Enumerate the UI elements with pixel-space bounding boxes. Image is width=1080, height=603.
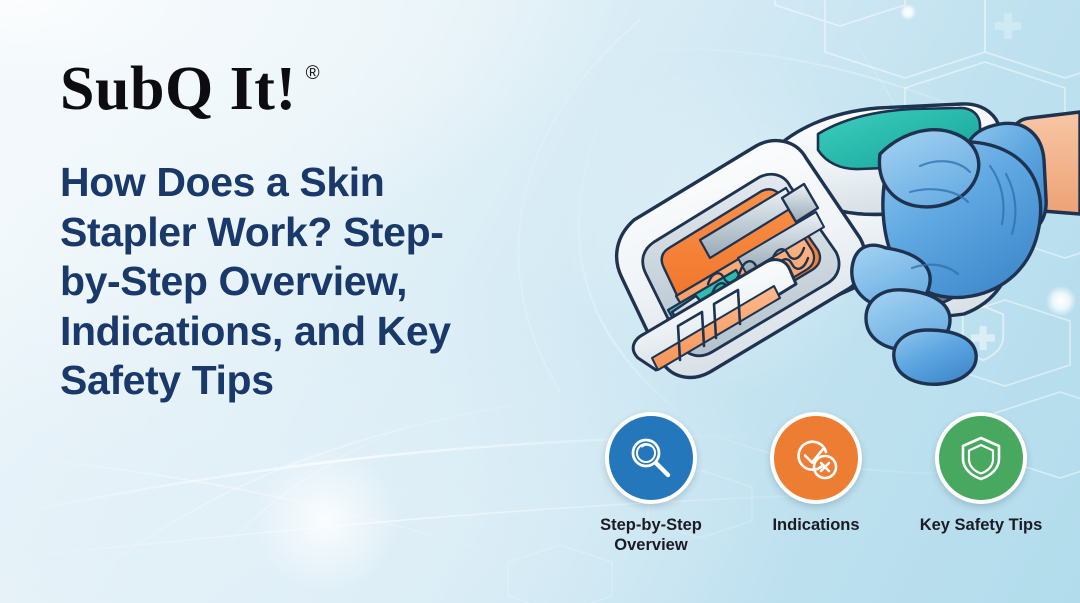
badge-label: Step-by-Step Overview [576, 515, 726, 555]
skin-stapler-gloved-hand-graphic [560, 62, 1080, 392]
badge-label: Key Safety Tips [920, 515, 1043, 535]
skin-stapler-illustration [560, 62, 1080, 392]
glow-node-3 [900, 4, 916, 20]
feature-badges: Step-by-Step Overview Indications Ke [576, 412, 1056, 572]
badge-step-by-step-overview[interactable]: Step-by-Step Overview [576, 412, 726, 555]
badge-label: Indications [772, 515, 859, 535]
badge-indications[interactable]: Indications [741, 412, 891, 535]
brand-wordmark: SubQ It! [60, 58, 297, 120]
badge-circle-orange[interactable] [770, 412, 862, 504]
magnifier-icon [625, 432, 677, 484]
badge-key-safety-tips[interactable]: Key Safety Tips [906, 412, 1056, 535]
badge-circle-green[interactable] [935, 412, 1027, 504]
brand-logo: SubQ It! ® [60, 58, 320, 120]
soft-glow-left [255, 450, 395, 590]
badge-circle-blue[interactable] [605, 412, 697, 504]
hero-banner: SubQ It! ® How Does a Skin Stapler Work?… [0, 0, 1080, 603]
page-title: How Does a Skin Stapler Work? Step-by-St… [60, 158, 490, 406]
check-and-cross-icon [790, 432, 842, 484]
shield-icon [955, 432, 1007, 484]
registered-trademark-symbol: ® [306, 64, 320, 83]
